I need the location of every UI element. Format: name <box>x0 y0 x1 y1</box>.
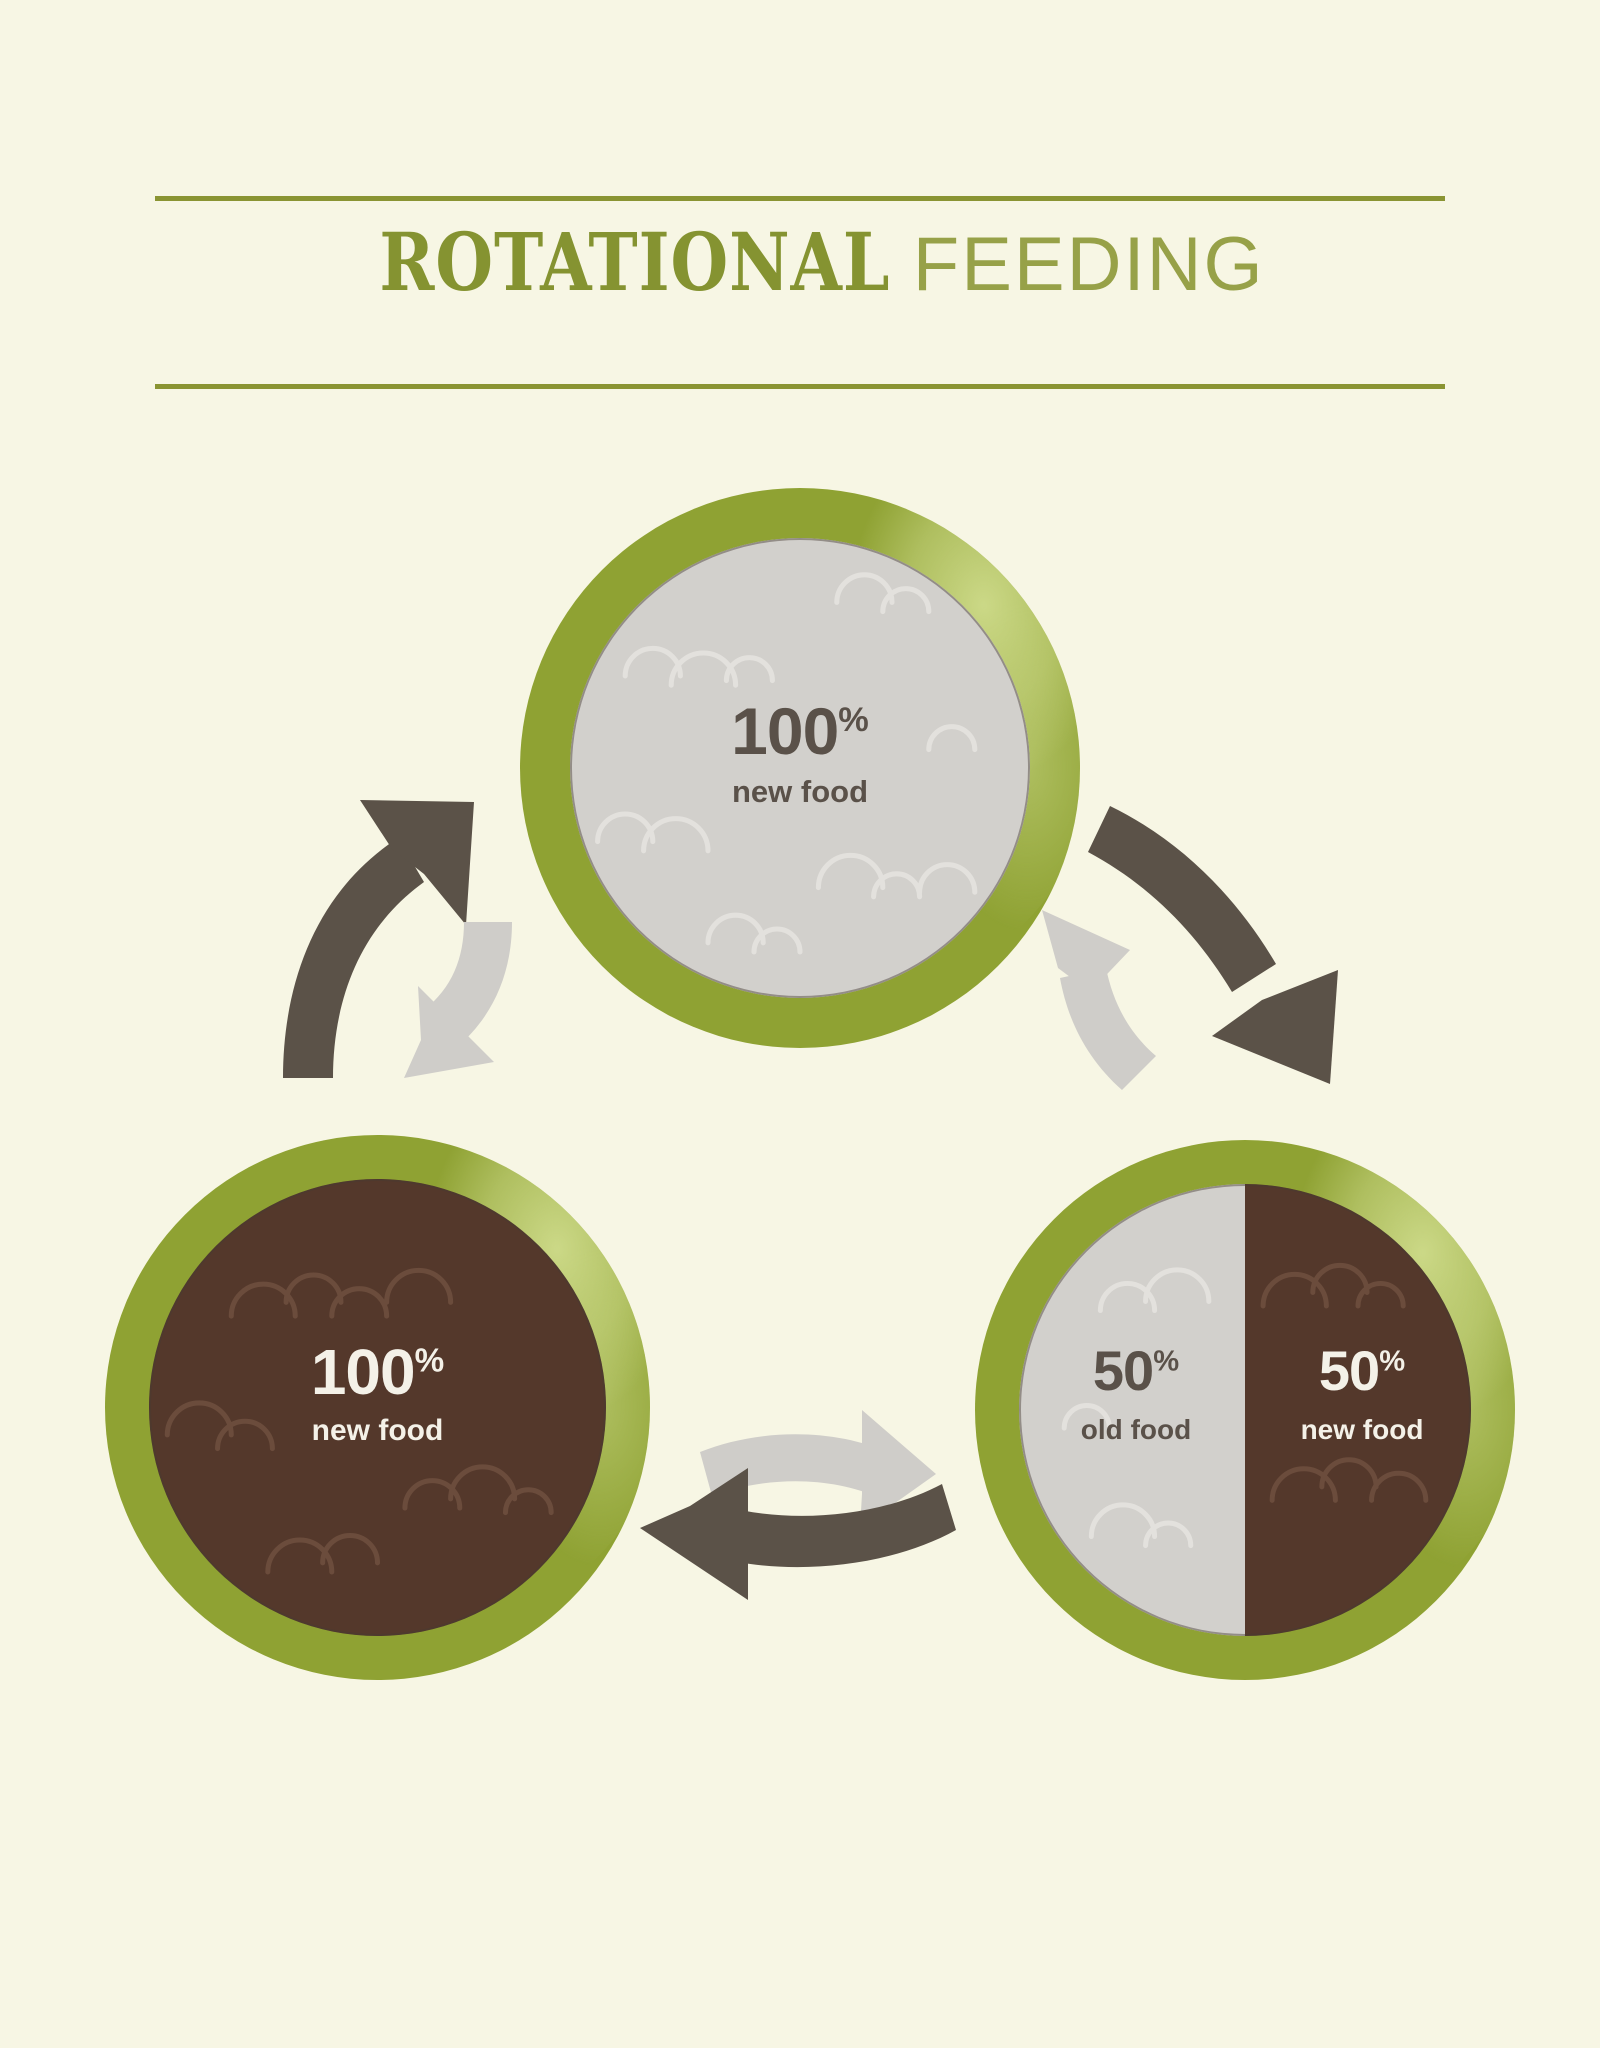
node-bottom-right-caption-new: new food <box>1227 1414 1497 1446</box>
header-rule-bottom <box>155 384 1445 389</box>
node-bottom-right: 50% old food 50% new food <box>975 1140 1515 1680</box>
node-bottom-right-label-new: 50% new food <box>1227 1338 1497 1446</box>
header-rule-top <box>155 196 1445 201</box>
arrow-left-up-dark-icon <box>283 800 474 1078</box>
page-title: ROTATIONALFEEDING <box>155 222 1445 303</box>
arrow-bottom-right-light-icon <box>700 1410 936 1528</box>
node-bottom-left: 100% new food <box>105 1135 650 1680</box>
arrow-right-up-light-icon <box>1042 910 1156 1090</box>
page-title-light: FEEDING <box>913 227 1265 303</box>
arrow-left-down-light-icon <box>404 922 512 1078</box>
arrow-right-down-dark-icon <box>1088 806 1338 1084</box>
node-bottom-left-percent: 100% <box>311 1336 444 1408</box>
node-top-percent: 100% <box>731 694 869 768</box>
infographic-page: ROTATIONALFEEDING <box>0 0 1600 2048</box>
node-bottom-right-percent-new: 50% <box>1319 1339 1405 1402</box>
node-bottom-left-caption: new food <box>105 1416 650 1446</box>
arrow-bottom-left-dark-icon <box>640 1468 956 1600</box>
node-bottom-left-label: 100% new food <box>105 1340 650 1446</box>
node-top: 100% new food <box>520 488 1080 1048</box>
page-title-strong: ROTATIONAL <box>380 222 891 302</box>
node-bottom-right-percent-old: 50% <box>1093 1339 1179 1402</box>
header: ROTATIONALFEEDING <box>155 196 1445 391</box>
node-top-label: 100% new food <box>520 698 1080 807</box>
node-top-caption: new food <box>520 776 1080 807</box>
